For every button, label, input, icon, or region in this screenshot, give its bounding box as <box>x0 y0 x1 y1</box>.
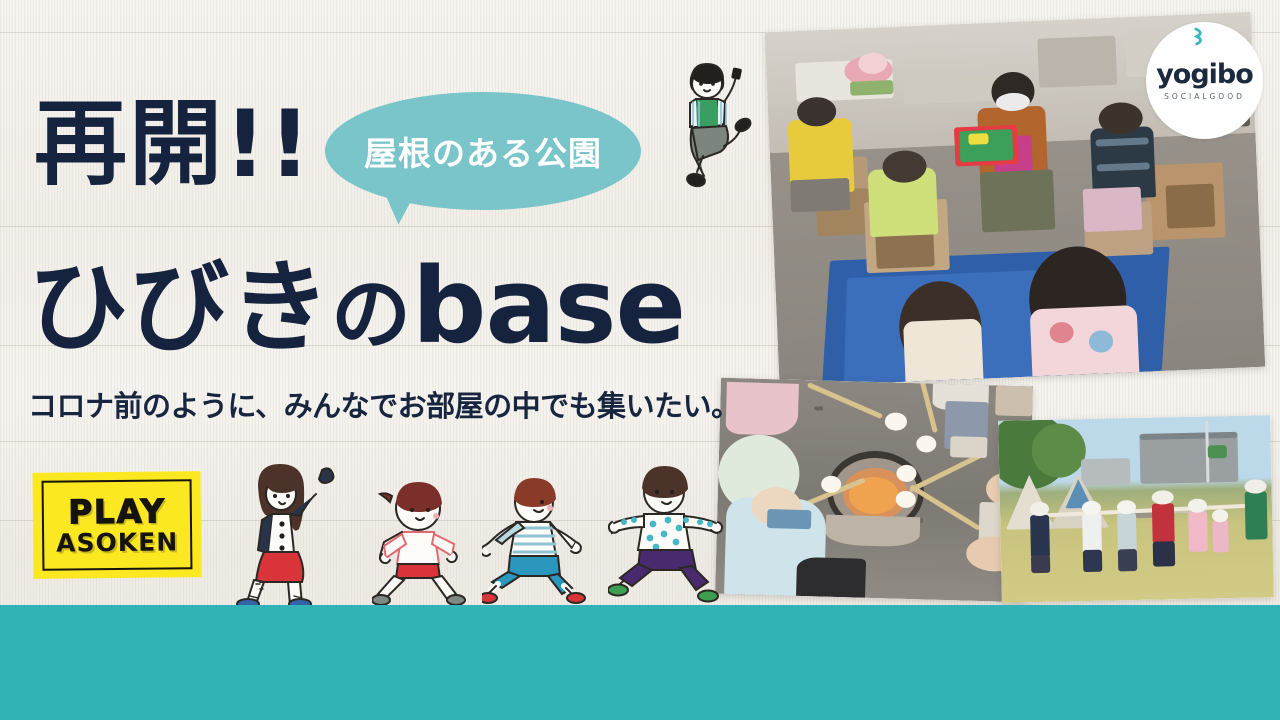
badge-line-play: PLAY <box>68 494 166 528</box>
yogibo-wordmark: yogibo <box>1156 61 1253 88</box>
speech-bubble-tail <box>387 195 418 226</box>
poster-canvas: yogibo SOCIALGOOD 再開!! 屋根のある公園 ひびきのbase … <box>0 0 1280 720</box>
speech-bubble-label: 屋根のある公園 <box>364 127 602 175</box>
play-asoken-badge: PLAY ASOKEN <box>32 471 201 579</box>
yogibo-squiggle-icon <box>1193 26 1208 47</box>
kid-dotted-shirt-illustration <box>608 462 726 604</box>
project-name: ひびきのbase <box>28 252 685 361</box>
kid-ponytail-pink-illustration <box>372 478 467 606</box>
funding-summary-band: 目標金額 200万円 募集期間 24.12.1〜25.1.10 <box>0 605 1280 720</box>
badge-line-asoken: ASOKEN <box>56 529 178 555</box>
page-title-saikai: 再開!! <box>34 98 313 191</box>
project-name-particle: の <box>331 268 412 361</box>
photo-marshmallow-roast <box>715 378 1033 603</box>
yogibo-tagline: SOCIALGOOD <box>1164 92 1245 101</box>
photo-camp-field <box>998 415 1274 603</box>
kid-girl-red-skirt-illustration <box>236 456 346 608</box>
kid-striped-shirt-illustration <box>482 476 592 604</box>
project-name-base: base <box>412 245 685 367</box>
yogibo-sponsor-logo: yogibo SOCIALGOOD <box>1146 22 1263 139</box>
tagline: コロナ前のように、みんなでお部屋の中でも集いたい。 <box>28 383 740 425</box>
kid-jumping-green-illustration <box>662 52 762 197</box>
speech-bubble: 屋根のある公園 <box>325 92 641 210</box>
project-name-kana: ひびき <box>28 249 331 366</box>
